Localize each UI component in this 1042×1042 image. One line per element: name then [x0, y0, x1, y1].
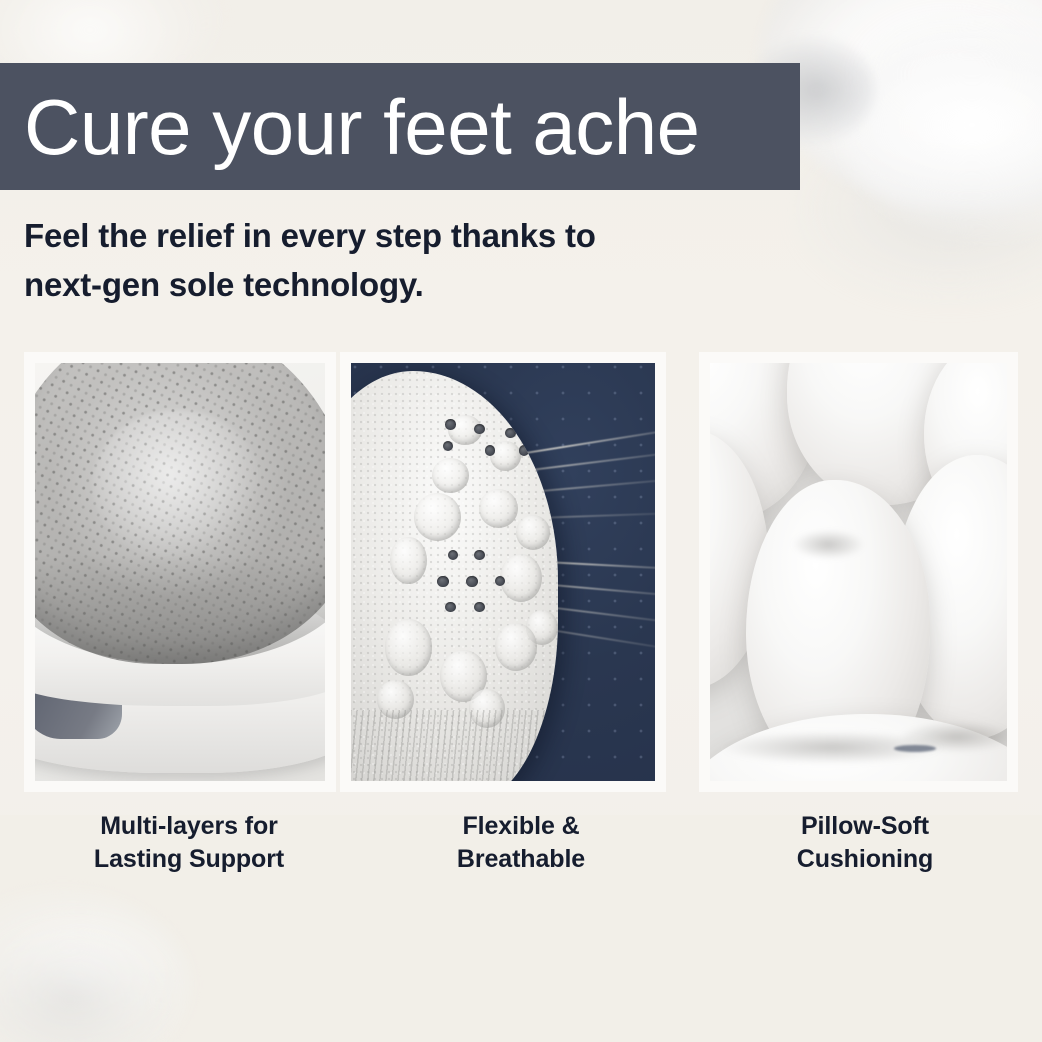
pillow-cushion-art	[710, 363, 1007, 781]
caption-line-2: Lasting Support	[24, 843, 354, 876]
caption-line-1: Pillow-Soft	[700, 810, 1030, 843]
ventilation-hole	[474, 424, 484, 434]
feature-image-multi-layers	[35, 363, 325, 781]
ventilation-hole	[474, 550, 484, 560]
insole-layers-art	[35, 363, 325, 781]
feature-panel-breathable[interactable]	[340, 352, 666, 792]
caption-multi-layers: Multi-layers for Lasting Support	[24, 810, 354, 877]
massage-bump	[390, 537, 427, 585]
ventilation-hole	[445, 602, 455, 612]
promo-creative: Cure your feet ache Feel the relief in e…	[0, 0, 1042, 1042]
caption-pillow-soft: Pillow-Soft Cushioning	[700, 810, 1030, 877]
caption-line-1: Flexible &	[356, 810, 686, 843]
subtitle: Feel the relief in every step thanks to …	[24, 212, 784, 310]
massage-bump	[495, 623, 537, 671]
caption-line-2: Cushioning	[700, 843, 1030, 876]
massage-bump	[479, 489, 518, 528]
feature-panels	[0, 352, 1042, 792]
massage-bump	[500, 554, 542, 602]
ventilation-hole	[474, 602, 484, 612]
massage-bump	[385, 619, 432, 676]
subtitle-line-2: next-gen sole technology.	[24, 261, 784, 310]
feature-panel-pillow-soft[interactable]	[699, 352, 1018, 792]
arch-support-bulge	[92, 410, 262, 561]
massage-bump	[432, 458, 469, 493]
massage-bump	[516, 515, 550, 550]
cushion-crease	[793, 530, 864, 559]
ventilation-hole	[445, 419, 455, 429]
feature-image-pillow-soft	[710, 363, 1007, 781]
massage-bump	[414, 493, 461, 541]
caption-breathable: Flexible & Breathable	[356, 810, 686, 877]
headline-text: Cure your feet ache	[0, 88, 700, 166]
ventilation-hole	[505, 428, 515, 438]
caption-line-2: Breathable	[356, 843, 686, 876]
insole-rib-texture	[351, 710, 558, 781]
feature-panel-multi-layers[interactable]	[24, 352, 336, 792]
breathable-insole-art	[351, 363, 655, 781]
insole-body	[351, 371, 558, 781]
subtitle-line-1: Feel the relief in every step thanks to	[24, 212, 784, 261]
feature-image-breathable	[351, 363, 655, 781]
ventilation-hole	[485, 445, 495, 455]
headline-banner: Cure your feet ache	[0, 63, 800, 190]
ventilation-hole	[519, 445, 529, 455]
caption-line-1: Multi-layers for	[24, 810, 354, 843]
